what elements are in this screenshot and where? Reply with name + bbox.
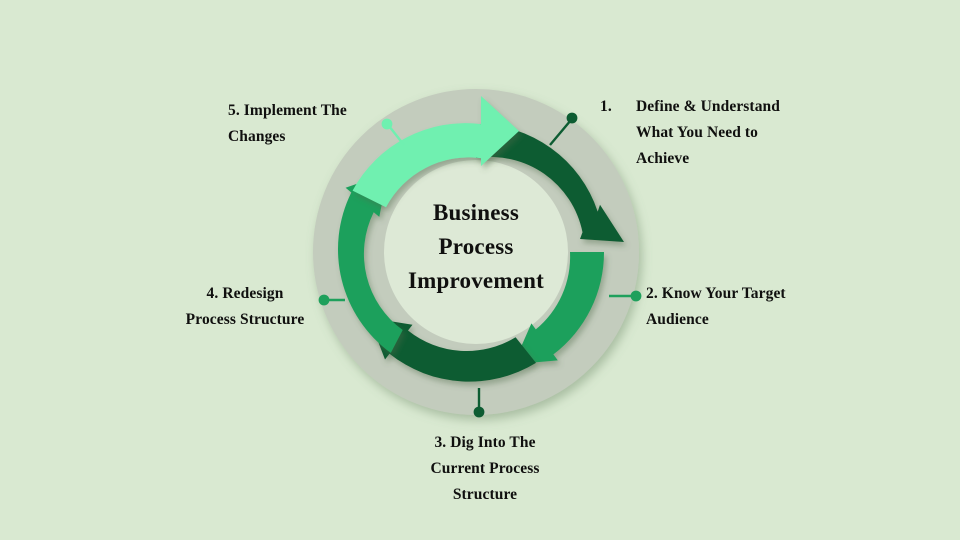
step-1-line-2: What You Need to [636, 124, 758, 141]
center-title-line-2: Process [370, 230, 582, 264]
step-label-2[interactable]: 2. Know Your Target Audience [646, 281, 846, 333]
step-3-line-1: 3. Dig Into The [390, 430, 580, 456]
step-label-3[interactable]: 3. Dig Into The Current Process Structur… [390, 430, 580, 508]
step-label-5[interactable]: 5. Implement The Changes [228, 98, 428, 150]
center-title: Business Process Improvement [370, 196, 582, 298]
step-1-line-3: Achieve [636, 150, 689, 167]
step-5-line-1: 5. Implement The [228, 98, 428, 124]
center-title-line-1: Business [370, 196, 582, 230]
step-4-line-1: 4. Redesign [150, 281, 340, 307]
step-number-1: 1. [600, 94, 636, 120]
step-4-line-2: Process Structure [150, 307, 340, 333]
step-label-1[interactable]: 1.Define & UnderstandWhat You Need toAch… [600, 94, 840, 172]
step-2-line-1: 2. Know Your Target [646, 281, 846, 307]
step-3-line-3: Structure [390, 482, 580, 508]
step-text-1: Define & UnderstandWhat You Need toAchie… [636, 94, 828, 172]
step-2-line-2: Audience [646, 307, 846, 333]
step-1-line-1: Define & Understand [636, 98, 780, 115]
step-3-line-2: Current Process [390, 456, 580, 482]
step-5-line-2: Changes [228, 124, 428, 150]
slide-canvas: Business Process Improvement 1.Define & … [0, 0, 960, 540]
step-label-4[interactable]: 4. Redesign Process Structure [150, 281, 340, 333]
center-title-line-3: Improvement [370, 264, 582, 298]
